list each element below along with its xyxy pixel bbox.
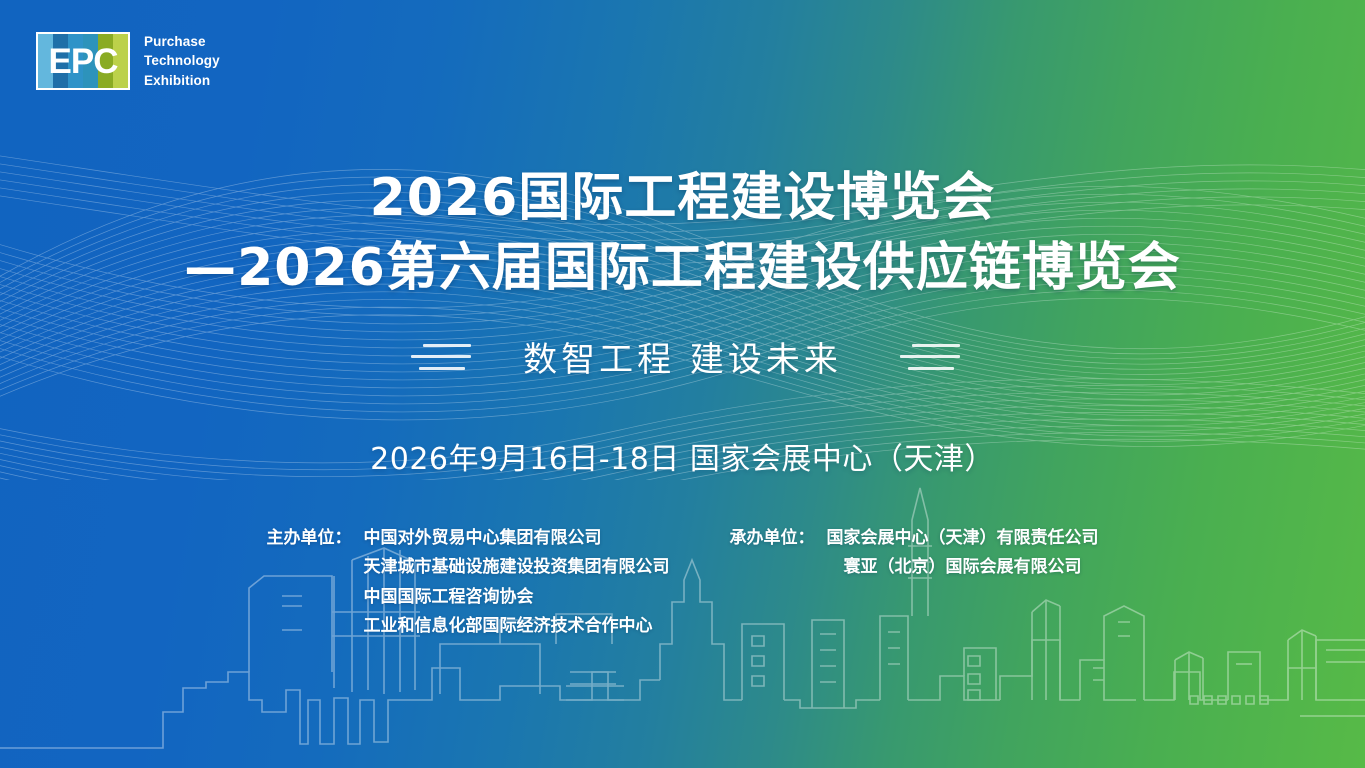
epc-logo-mark: EPC	[36, 32, 130, 90]
slogan-right-decoration-icon	[894, 344, 960, 370]
event-title-primary: 2026国际工程建设博览会	[0, 168, 1365, 228]
event-poster: EPC Purchase Technology Exhibition 2026国…	[0, 0, 1365, 768]
event-title-secondary: —2026第六届国际工程建设供应链博览会	[0, 238, 1365, 298]
logo-tagline-line-2: Technology	[144, 51, 220, 70]
host-organizers-group: 主办单位： 中国对外贸易中心集团有限公司 天津城市基础设施建设投资集团有限公司 …	[267, 524, 670, 642]
logo-letters: EPC	[38, 34, 128, 88]
logo-tagline-line-1: Purchase	[144, 32, 220, 51]
slogan-left-decoration-icon	[405, 344, 471, 370]
undertaker-organizer-item: 国家会展中心（天津）有限责任公司	[827, 524, 1099, 553]
host-organizer-item: 天津城市基础设施建设投资集团有限公司	[364, 553, 670, 582]
logo-tagline-line-3: Exhibition	[144, 71, 220, 90]
organizers-block: 主办单位： 中国对外贸易中心集团有限公司 天津城市基础设施建设投资集团有限公司 …	[0, 524, 1365, 642]
slogan-row: 数智工程 建设未来	[0, 332, 1365, 381]
undertaker-organizers-label: 承办单位：	[730, 524, 815, 553]
undertaker-organizers-list: 国家会展中心（天津）有限责任公司 寰亚（北京）国际会展有限公司	[827, 524, 1099, 583]
host-organizer-item: 中国对外贸易中心集团有限公司	[364, 524, 670, 553]
host-organizers-list: 中国对外贸易中心集团有限公司 天津城市基础设施建设投资集团有限公司 中国国际工程…	[364, 524, 670, 642]
host-organizers-label: 主办单位：	[267, 524, 352, 553]
undertaker-organizers-group: 承办单位： 国家会展中心（天津）有限责任公司 寰亚（北京）国际会展有限公司	[730, 524, 1099, 642]
logo-tagline: Purchase Technology Exhibition	[144, 32, 220, 89]
wave-pattern-decoration	[0, 0, 1365, 768]
host-organizer-item: 工业和信息化部国际经济技术合作中心	[364, 612, 670, 641]
undertaker-organizer-item: 寰亚（北京）国际会展有限公司	[844, 553, 1082, 582]
city-skyline-decoration	[0, 0, 1365, 768]
logo-block: EPC Purchase Technology Exhibition	[36, 32, 220, 90]
date-and-venue: 2026年9月16日-18日 国家会展中心（天津）	[0, 434, 1365, 478]
headline-block: 2026国际工程建设博览会 —2026第六届国际工程建设供应链博览会	[0, 168, 1365, 299]
host-organizer-item: 中国国际工程咨询协会	[364, 583, 670, 612]
slogan-text: 数智工程 建设未来	[523, 332, 842, 381]
